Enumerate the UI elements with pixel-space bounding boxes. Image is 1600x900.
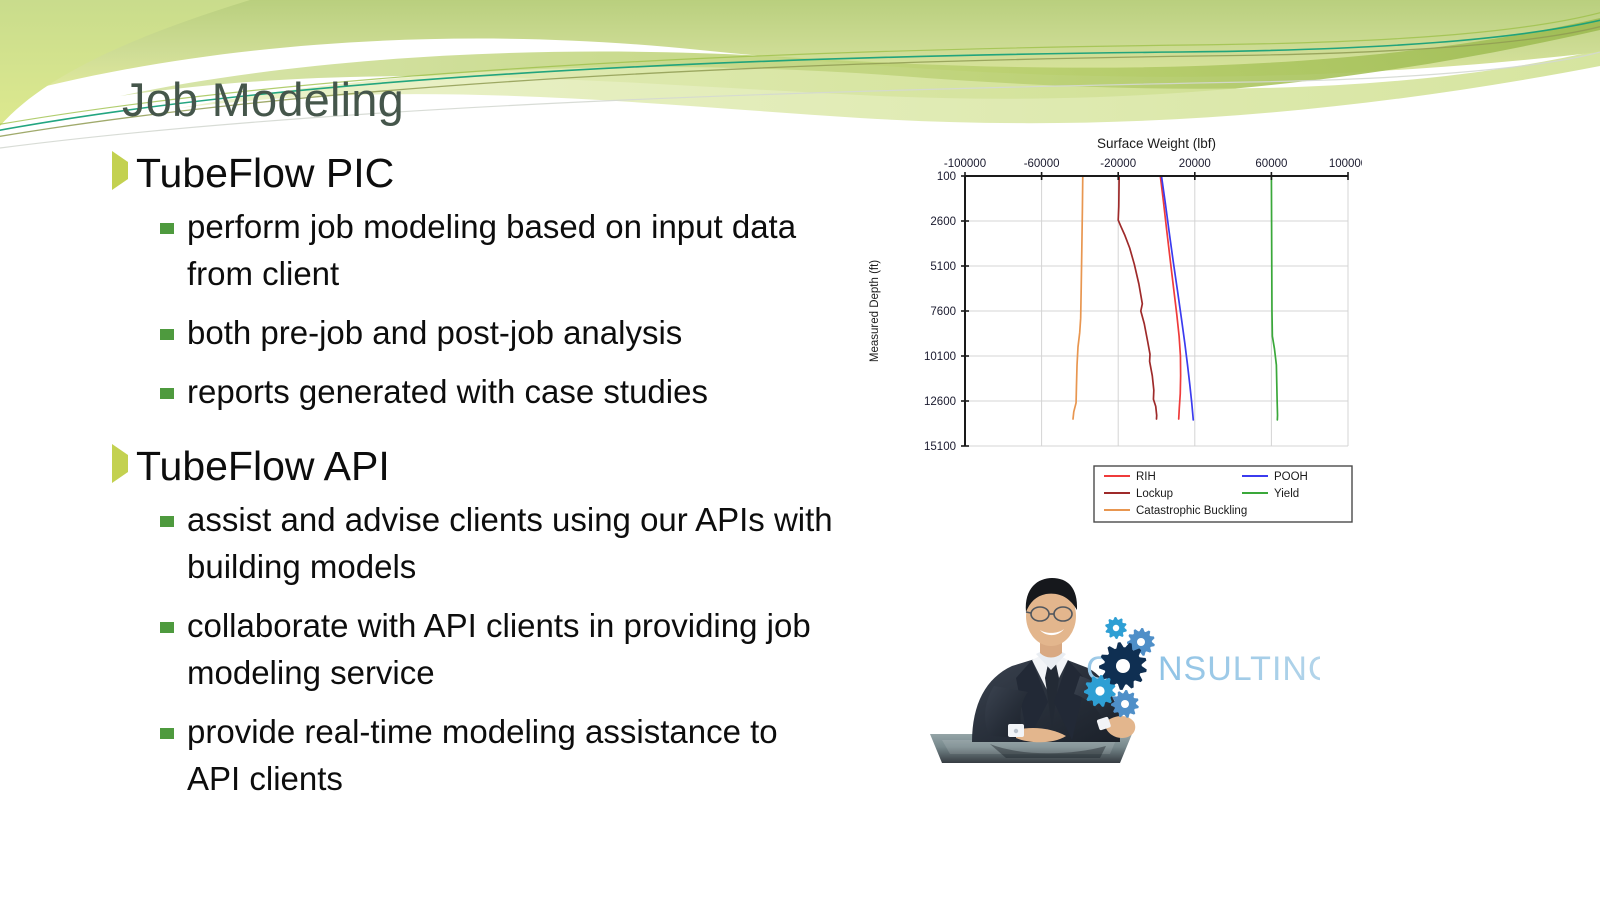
gear-hub bbox=[1137, 638, 1145, 646]
legend-label: Lockup bbox=[1136, 488, 1173, 500]
list-item-label: collaborate with API clients in providin… bbox=[187, 603, 835, 697]
chart-title: Surface Weight (lbf) bbox=[1097, 136, 1216, 151]
surface-weight-chart: -100000-60000-20000200006000010000010026… bbox=[862, 128, 1362, 538]
y-tick-label: 7600 bbox=[930, 306, 956, 318]
legend-label: RIH bbox=[1136, 471, 1156, 483]
gear-hub bbox=[1116, 659, 1130, 673]
square-bullet-icon bbox=[160, 622, 174, 633]
list-item[interactable]: collaborate with API clients in providin… bbox=[112, 603, 852, 697]
page-title: Job Modeling bbox=[122, 72, 404, 127]
list-item[interactable]: perform job modeling based on input data… bbox=[112, 204, 852, 298]
list-item-label: perform job modeling based on input data… bbox=[187, 204, 835, 298]
list-item-heading[interactable]: TubeFlow API bbox=[112, 441, 852, 491]
gear-hub bbox=[1113, 625, 1119, 631]
consulting-word-right: NSULTING bbox=[1158, 650, 1320, 688]
legend-label: POOH bbox=[1274, 471, 1308, 483]
list-item[interactable]: assist and advise clients using our APIs… bbox=[112, 497, 852, 591]
sub-list: perform job modeling based on input data… bbox=[112, 204, 852, 415]
y-tick-label: 12600 bbox=[924, 396, 956, 408]
x-tick-label: 20000 bbox=[1179, 158, 1211, 170]
triangle-bullet-icon bbox=[112, 455, 132, 473]
y-tick-label: 2600 bbox=[930, 216, 956, 228]
list-item-label: reports generated with case studies bbox=[187, 369, 708, 416]
x-tick-label: -60000 bbox=[1024, 158, 1060, 170]
content-body: TubeFlow PIC perform job modeling based … bbox=[112, 148, 852, 815]
triangle-bullet-icon bbox=[112, 162, 132, 180]
y-tick-label: 15100 bbox=[924, 441, 956, 453]
y-tick-label: 5100 bbox=[930, 261, 956, 273]
x-tick-label: 100000 bbox=[1329, 158, 1362, 170]
legend-label: Yield bbox=[1274, 488, 1299, 500]
y-tick-label: 100 bbox=[937, 171, 956, 183]
x-tick-label: -100000 bbox=[944, 158, 986, 170]
list-item[interactable]: reports generated with case studies bbox=[112, 369, 852, 416]
gear-hub bbox=[1121, 700, 1129, 708]
heading-label: TubeFlow PIC bbox=[136, 148, 394, 198]
square-bullet-icon bbox=[160, 223, 174, 234]
square-bullet-icon bbox=[160, 388, 174, 399]
list-item-label: assist and advise clients using our APIs… bbox=[187, 497, 835, 591]
x-tick-label: -20000 bbox=[1100, 158, 1136, 170]
group-spacer bbox=[112, 427, 852, 437]
y-axis-label: Measured Depth (ft) bbox=[869, 260, 881, 362]
heading-label: TubeFlow API bbox=[136, 441, 390, 491]
square-bullet-icon bbox=[160, 329, 174, 340]
list-item[interactable]: both pre-job and post-job analysis bbox=[112, 310, 852, 357]
y-tick-label: 10100 bbox=[924, 351, 956, 363]
list-item-label: both pre-job and post-job analysis bbox=[187, 310, 682, 357]
gear-hub bbox=[1095, 686, 1104, 695]
square-bullet-icon bbox=[160, 516, 174, 527]
sub-list: assist and advise clients using our APIs… bbox=[112, 497, 852, 802]
consulting-image: C NSULTING bbox=[920, 558, 1320, 784]
list-item[interactable]: provide real-time modeling assistance to… bbox=[112, 709, 852, 803]
list-item-heading[interactable]: TubeFlow PIC bbox=[112, 148, 852, 198]
x-tick-label: 60000 bbox=[1255, 158, 1287, 170]
list-item-label: provide real-time modeling assistance to… bbox=[187, 709, 835, 803]
square-bullet-icon bbox=[160, 728, 174, 739]
legend-label: Catastrophic Buckling bbox=[1136, 505, 1247, 517]
